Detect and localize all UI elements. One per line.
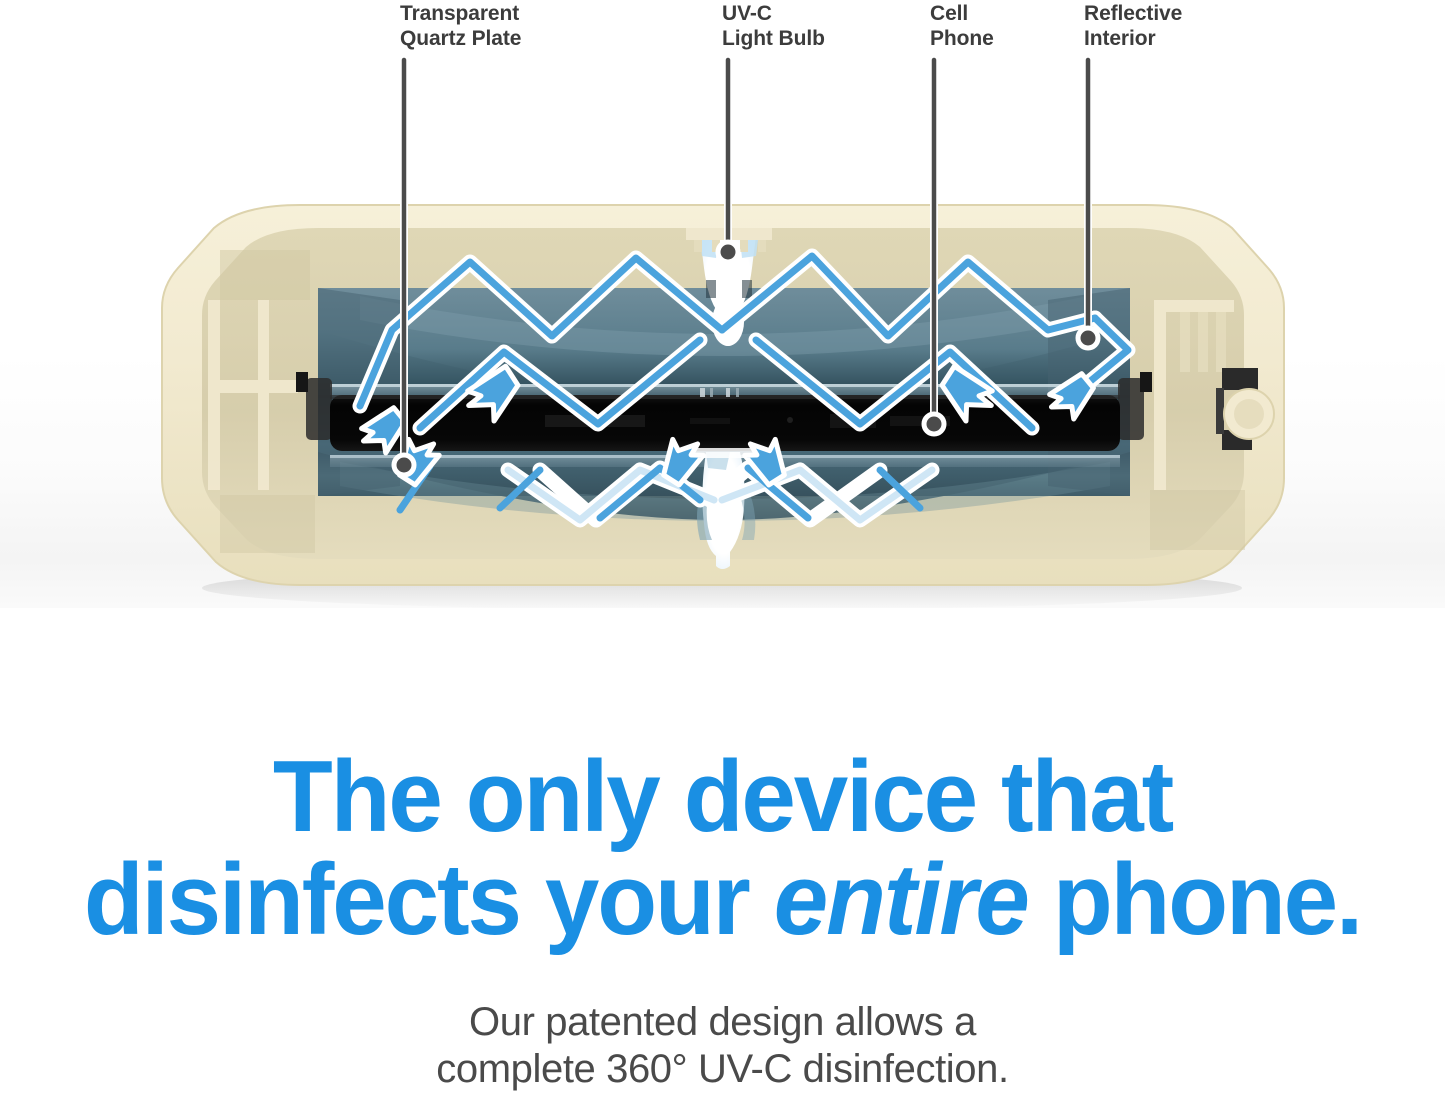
headline-line-1: The only device that: [22, 748, 1424, 847]
subheadline-line-2: complete 360° UV-C disinfection.: [0, 1046, 1445, 1093]
leader-dot-cell-phone: [924, 414, 944, 434]
marketing-copy-block: The only device that disinfects your ent…: [0, 608, 1445, 1108]
leader-dot-reflective-interior: [1078, 328, 1098, 348]
headline-line-2-pre: disinfects your: [84, 844, 774, 956]
subheadline: Our patented design allows a complete 36…: [0, 999, 1445, 1093]
device-cutaway-illustration: Transparent Quartz Plate UV-C Light Bulb…: [0, 0, 1445, 608]
leader-dot-uvc-light-bulb: [718, 242, 738, 262]
subheadline-line-1: Our patented design allows a: [0, 999, 1445, 1046]
leader-dot-quartz-plate: [394, 455, 414, 475]
product-infographic-page: Transparent Quartz Plate UV-C Light Bulb…: [0, 0, 1445, 1108]
headline-emphasis-entire: entire: [774, 844, 1028, 956]
headline-line-2: disinfects your entire phone.: [22, 851, 1424, 950]
cutaway-svg: [0, 0, 1445, 608]
cutaway-svg-wrapper: [0, 0, 1445, 608]
headline: The only device that disinfects your ent…: [22, 748, 1424, 950]
headline-line-2-post: phone.: [1028, 844, 1361, 956]
